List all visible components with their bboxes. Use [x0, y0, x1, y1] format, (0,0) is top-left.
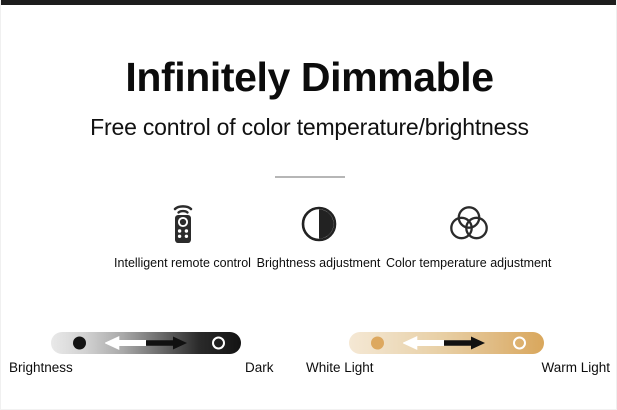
feature-label: Color temperature adjustment: [386, 256, 551, 270]
feature-label: Intelligent remote control: [105, 256, 260, 270]
page-title: Infinitely Dimmable: [1, 56, 617, 99]
color-temperature-slider-right-label: Warm Light: [541, 360, 610, 375]
brightness-slider-track[interactable]: [51, 332, 241, 354]
brightness-half-circle-icon: [256, 200, 381, 248]
brightness-double-arrow-icon: [105, 336, 187, 351]
color-temperature-double-arrow-icon: [403, 336, 485, 351]
divider: [275, 176, 345, 178]
color-temperature-slider-knob-left[interactable]: [371, 337, 384, 350]
feature-remote-control: Intelligent remote control: [105, 200, 260, 270]
brightness-slider-knob-right[interactable]: [212, 337, 225, 350]
page-subtitle: Free control of color temperature/bright…: [1, 114, 617, 141]
brightness-slider[interactable]: Brightness Dark: [1, 330, 301, 410]
brightness-slider-right-label: Dark: [245, 360, 274, 375]
remote-control-icon: [105, 200, 260, 248]
top-bar: [1, 0, 617, 5]
brightness-slider-knob-left[interactable]: [73, 337, 86, 350]
poster-canvas: Infinitely Dimmable Free control of colo…: [0, 0, 617, 410]
color-temperature-slider-track[interactable]: [349, 332, 544, 354]
three-overlapping-circles-icon: [386, 200, 551, 248]
brightness-slider-left-label: Brightness: [9, 360, 73, 375]
feature-color-temperature-adjustment: Color temperature adjustment: [386, 200, 551, 270]
color-temperature-slider-left-label: White Light: [306, 360, 374, 375]
feature-label: Brightness adjustment: [256, 256, 381, 270]
color-temperature-slider[interactable]: White Light Warm Light: [301, 330, 617, 410]
feature-row: Intelligent remote control Brightness ad…: [1, 200, 617, 290]
color-temperature-slider-knob-right[interactable]: [513, 337, 526, 350]
feature-brightness-adjustment: Brightness adjustment: [256, 200, 381, 270]
